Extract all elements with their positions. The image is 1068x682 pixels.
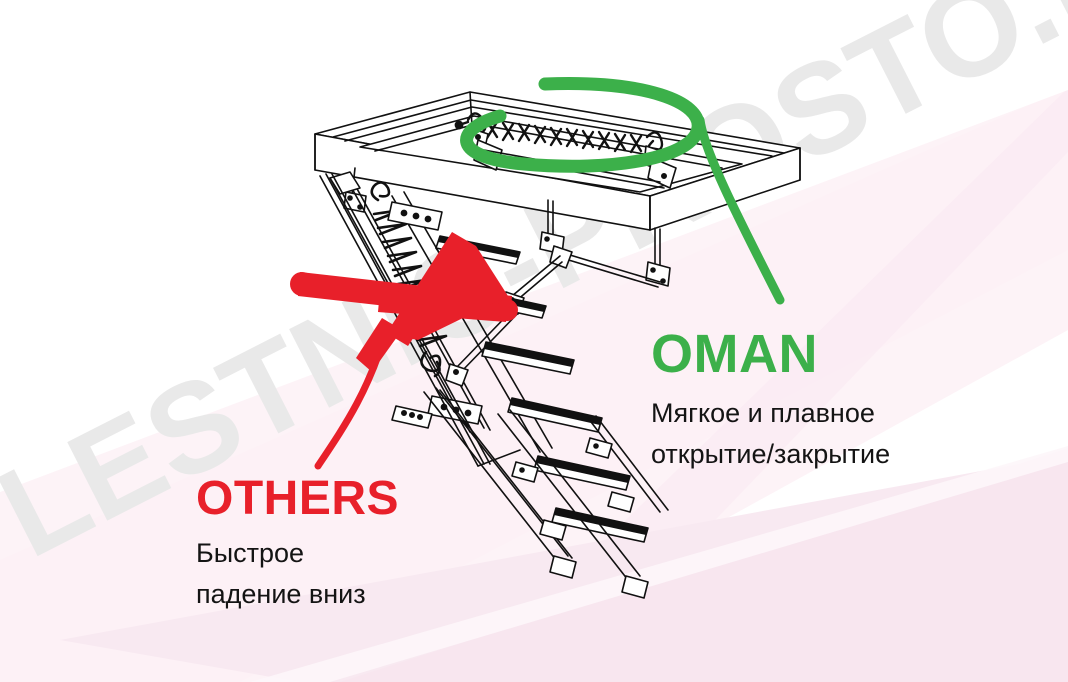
- red-annotation: [0, 0, 1068, 682]
- red-arrow: [290, 232, 518, 346]
- oman-description-line-2: открытие/закрытие: [651, 434, 890, 475]
- others-headline: OTHERS: [196, 475, 399, 523]
- oman-description: Мягкое и плавное открытие/закрытие: [651, 393, 890, 475]
- others-description-line-1: Быстрое: [196, 533, 366, 574]
- others-description: Быстрое падение вниз: [196, 533, 366, 615]
- oman-description-line-1: Мягкое и плавное: [651, 393, 890, 434]
- illustration-canvas: LESTNIC-PROSTO.RU: [0, 0, 1068, 682]
- oman-headline: OMAN: [651, 327, 818, 381]
- red-arrow-tip: [356, 318, 402, 372]
- others-description-line-2: падение вниз: [196, 574, 366, 615]
